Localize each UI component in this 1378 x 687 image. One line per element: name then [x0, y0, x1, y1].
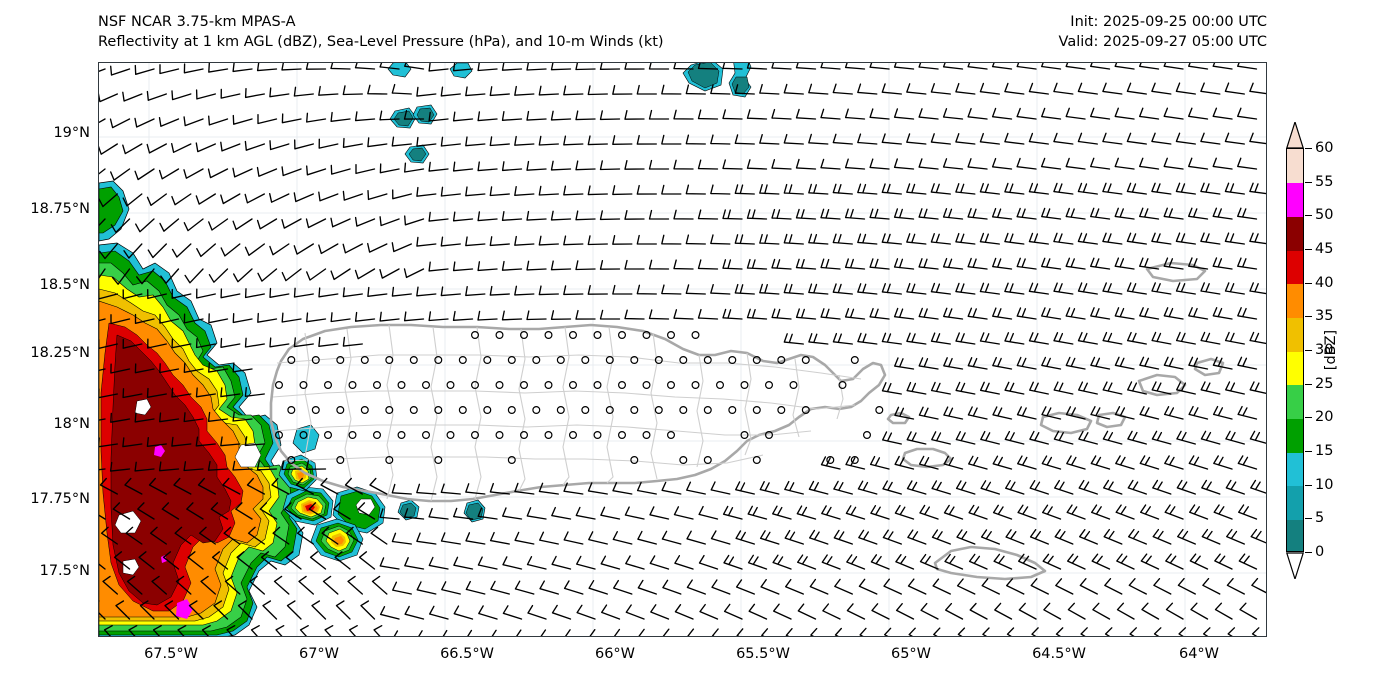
- wind-barb: [540, 581, 558, 594]
- wind-barb: [1140, 63, 1159, 69]
- wind-barb: [846, 209, 865, 219]
- wind-barb: [834, 481, 852, 494]
- colorbar-segment-30-35: [1287, 317, 1303, 351]
- colorbar-title: [dBZ]: [1323, 330, 1339, 370]
- wind-barb: [933, 579, 950, 594]
- wind-barb: [1226, 431, 1244, 444]
- wind-barb: [650, 310, 669, 319]
- wind-barb: [858, 134, 877, 144]
- wind-barb: [515, 581, 533, 594]
- colorbar-tick-15: [1305, 451, 1312, 452]
- wind-barb: [908, 481, 926, 494]
- wind-barb: [836, 629, 853, 637]
- wind-barb: [748, 506, 766, 519]
- calm-wind-circle: [668, 382, 675, 389]
- wind-barb: [343, 86, 362, 95]
- calm-wind-circle: [692, 382, 699, 389]
- wind-barb: [711, 135, 730, 144]
- wind-barb: [674, 260, 693, 269]
- wind-barb: [699, 160, 718, 169]
- wind-barb: [945, 505, 963, 519]
- wind-barb: [860, 628, 877, 636]
- wind-barb: [699, 210, 718, 219]
- colorbar-ticklabel-55: 55: [1315, 174, 1333, 190]
- calm-wind-circle: [398, 432, 405, 439]
- wind-barb: [319, 338, 338, 347]
- wind-barb: [736, 531, 754, 544]
- wind-barb: [650, 507, 669, 519]
- wind-barb: [1140, 158, 1159, 169]
- wind-barb: [956, 333, 975, 344]
- calm-wind-circle: [337, 407, 344, 414]
- wind-barb: [907, 184, 926, 194]
- wind-barb: [1164, 63, 1183, 69]
- wind-barb: [1204, 628, 1220, 636]
- wind-barb: [221, 142, 240, 151]
- wind-barb: [723, 310, 742, 320]
- colorbar-tick-50: [1305, 215, 1312, 216]
- wind-barb: [539, 236, 558, 245]
- municipality-boundaries: [273, 325, 861, 501]
- wind-barb: [1066, 108, 1085, 119]
- wind-barb: [601, 507, 620, 519]
- wind-barb: [331, 313, 350, 322]
- calm-wind-circle: [557, 357, 564, 364]
- wind-barb: [528, 557, 547, 569]
- wind-barb: [356, 269, 375, 279]
- wind-barb: [209, 169, 228, 178]
- wind-barb: [539, 136, 558, 145]
- wind-barb: [1215, 554, 1232, 569]
- wind-barb: [809, 334, 828, 344]
- wind-barb: [527, 112, 546, 121]
- wind-barb: [735, 135, 754, 144]
- wind-barb: [466, 187, 485, 196]
- wind-barb: [735, 235, 754, 244]
- wind-barb: [1238, 158, 1257, 169]
- wind-barb: [602, 605, 620, 619]
- wind-barb: [417, 287, 436, 296]
- wind-barb: [1104, 530, 1122, 544]
- wind-barb: [687, 580, 705, 594]
- wind-barb: [1018, 505, 1036, 519]
- wind-barb: [798, 555, 816, 569]
- calm-wind-circle: [680, 357, 687, 364]
- wind-barb: [1152, 183, 1171, 194]
- wind-barb: [246, 89, 265, 98]
- wind-barb: [172, 144, 191, 153]
- wind-barb: [882, 134, 901, 144]
- wind-barb: [245, 194, 264, 203]
- wind-barb: [613, 86, 632, 95]
- wind-barb: [380, 217, 399, 226]
- wind-barb: [553, 605, 571, 619]
- wind-barb: [711, 482, 730, 494]
- wind-barb: [312, 601, 326, 619]
- wind-barb: [993, 407, 1012, 419]
- wind-barb: [674, 160, 693, 169]
- wind-barb: [1238, 308, 1257, 319]
- wind-barb: [270, 88, 289, 97]
- wind-barb: [982, 579, 999, 594]
- wind-barb: [1152, 233, 1171, 244]
- wind-barb: [276, 626, 289, 636]
- calm-wind-circle: [582, 357, 589, 364]
- wind-barb: [1128, 481, 1146, 495]
- wind-barb: [773, 555, 791, 569]
- wind-barb: [564, 86, 583, 95]
- wind-barb: [1201, 83, 1220, 94]
- wind-barb: [895, 209, 914, 219]
- wind-barb: [1066, 208, 1085, 219]
- wind-barb: [479, 606, 497, 619]
- calm-wind-circle: [459, 407, 466, 414]
- wind-barb: [871, 457, 889, 469]
- calm-wind-circle: [423, 382, 430, 389]
- wind-barb: [319, 87, 338, 96]
- wind-barb: [1240, 603, 1257, 619]
- colorbar-ticklabel-10: 10: [1315, 477, 1333, 493]
- calm-wind-circle: [619, 332, 626, 339]
- wind-barb: [503, 557, 522, 569]
- wind-barb: [1078, 83, 1097, 94]
- wind-barb: [823, 604, 840, 619]
- wind-barb: [1006, 530, 1024, 544]
- wind-barb: [772, 260, 791, 270]
- wind-barb: [1190, 505, 1208, 519]
- calm-wind-circle: [778, 407, 785, 414]
- calm-wind-circle: [619, 382, 626, 389]
- wind-barb: [270, 338, 289, 347]
- calm-wind-circle: [668, 432, 675, 439]
- calm-wind-circle: [484, 357, 491, 364]
- wind-barb: [1201, 233, 1220, 244]
- wind-barb: [270, 244, 289, 255]
- wind-barb: [565, 630, 583, 636]
- colorbar-tick-55: [1305, 182, 1312, 183]
- wind-barb: [907, 432, 926, 444]
- wind-barb: [1252, 579, 1266, 594]
- wind-barb: [1189, 63, 1208, 69]
- wind-barb: [466, 484, 485, 494]
- wind-barb: [968, 358, 987, 369]
- wind-barb: [405, 216, 424, 225]
- wind-barb: [662, 531, 680, 544]
- wind-barb: [700, 605, 718, 619]
- wind-barb: [1152, 283, 1171, 294]
- wind-barb: [919, 159, 938, 169]
- wind-barb: [331, 113, 350, 122]
- wind-barb: [282, 63, 301, 70]
- calm-wind-circle: [533, 357, 540, 364]
- calm-wind-circle: [374, 432, 381, 439]
- wind-barb: [147, 92, 166, 101]
- wind-barb: [995, 603, 1012, 619]
- wind-barb: [662, 85, 681, 94]
- wind-barb: [700, 556, 718, 569]
- colorbar-segment-20-25: [1287, 385, 1303, 419]
- wind-barb: [969, 505, 987, 519]
- wind-barb: [946, 604, 963, 619]
- wind-barb: [282, 219, 301, 228]
- colorbar-tick-35: [1305, 316, 1312, 317]
- wind-barb: [699, 110, 718, 119]
- wind-barb: [1091, 308, 1110, 319]
- wind-barb: [516, 630, 534, 636]
- wind-barb: [908, 530, 926, 544]
- wind-barb: [282, 269, 301, 281]
- wind-barb: [1115, 357, 1134, 369]
- wind-barb: [1079, 333, 1098, 344]
- wind-barb: [944, 259, 963, 269]
- wind-barb: [663, 580, 681, 594]
- wind-barb: [956, 234, 975, 244]
- wind-barb: [258, 63, 277, 71]
- wind-barb: [1152, 133, 1171, 144]
- wind-barb: [282, 313, 301, 322]
- wind-barb: [810, 531, 828, 545]
- map-plot-area[interactable]: [98, 62, 1267, 637]
- calm-wind-circle: [704, 407, 711, 414]
- wind-barb: [515, 237, 534, 246]
- wind-barb: [723, 110, 742, 119]
- wind-barb: [625, 310, 644, 319]
- wind-barb: [601, 161, 620, 170]
- wind-barb: [1092, 554, 1109, 569]
- wind-barb: [246, 338, 265, 347]
- wind-barb: [344, 139, 363, 148]
- wind-barb: [1213, 158, 1232, 169]
- calm-wind-circle: [447, 382, 454, 389]
- wind-barb: [1214, 456, 1232, 469]
- wind-barb: [552, 111, 571, 120]
- wind-barb: [454, 162, 473, 171]
- wind-barb: [1055, 530, 1073, 544]
- wind-barb: [99, 67, 105, 76]
- wind-barb: [724, 507, 742, 520]
- wind-barb: [870, 209, 889, 219]
- wind-barb: [1152, 83, 1171, 94]
- wind-barb: [983, 628, 999, 636]
- calm-wind-circle: [570, 432, 577, 439]
- wind-barb: [275, 576, 289, 594]
- wind-barb: [1106, 628, 1122, 636]
- colorbar-tick-25: [1305, 384, 1312, 385]
- wind-barb: [1167, 603, 1184, 619]
- wind-barb: [348, 576, 362, 594]
- wind-barb: [588, 236, 607, 245]
- wind-barb: [371, 527, 387, 544]
- wind-barb: [798, 604, 815, 619]
- wind-barb: [417, 582, 436, 594]
- wind-barb: [1178, 530, 1196, 544]
- calm-wind-circle: [545, 332, 552, 339]
- wind-barb: [1030, 333, 1049, 344]
- calm-wind-circle: [337, 457, 344, 464]
- wind-barb: [374, 626, 387, 636]
- wind-barb: [324, 576, 338, 594]
- wind-barb: [135, 118, 154, 127]
- wind-barb: [613, 532, 632, 544]
- calm-wind-circle: [594, 432, 601, 439]
- wind-barb: [392, 485, 411, 495]
- wind-barb: [1017, 209, 1036, 220]
- wind-barb: [785, 482, 804, 494]
- wind-barb: [564, 186, 583, 195]
- wind-barb: [1127, 233, 1146, 244]
- wind-barb: [1251, 481, 1266, 495]
- wind-barb: [1005, 184, 1024, 195]
- wind-barb: [405, 558, 424, 569]
- wind-barb: [785, 531, 803, 544]
- wind-barb: [565, 581, 583, 594]
- wind-barb: [895, 457, 913, 470]
- wind-barb: [883, 383, 902, 394]
- colorbar[interactable]: 051015202530354045505560: [1286, 122, 1304, 578]
- wind-barb: [1030, 432, 1048, 445]
- wind-barb: [221, 289, 240, 298]
- wind-barb: [968, 109, 987, 119]
- wind-barb: [1054, 382, 1073, 394]
- wind-barb: [466, 533, 485, 544]
- colorbar-ticklabel-50: 50: [1315, 207, 1333, 223]
- wind-barb: [760, 135, 779, 144]
- wind-barb: [282, 114, 301, 123]
- wind-barb: [871, 506, 889, 519]
- wind-barb: [1007, 579, 1024, 594]
- wind-barb: [393, 631, 411, 636]
- wind-barb: [993, 258, 1012, 269]
- wind-barb: [625, 261, 644, 270]
- wind-barb: [1116, 407, 1135, 419]
- wind-barb: [1081, 628, 1097, 636]
- wind-barb: [883, 432, 902, 444]
- wind-barb: [221, 339, 240, 348]
- wind-barb: [895, 259, 914, 269]
- wind-barb: [331, 269, 350, 279]
- wind-barb: [638, 580, 656, 594]
- wind-barb: [932, 432, 951, 444]
- wind-barb: [601, 211, 620, 220]
- wind-barb: [1152, 333, 1171, 345]
- wind-barb: [1017, 308, 1036, 319]
- wind-barb: [588, 186, 607, 195]
- wind-barb: [221, 194, 240, 204]
- wind-barb: [1164, 108, 1183, 119]
- calm-wind-circle: [521, 382, 528, 389]
- wind-barb: [319, 192, 338, 201]
- wind-barb: [197, 289, 216, 298]
- wind-barb: [772, 309, 791, 319]
- wind-barb: [478, 112, 497, 121]
- wind-barb: [361, 601, 375, 619]
- wind-barb: [614, 630, 632, 637]
- wind-barb: [184, 117, 203, 126]
- wind-barb: [466, 87, 485, 96]
- wind-barb: [1153, 530, 1171, 544]
- wind-barb: [870, 109, 889, 119]
- wind-barb: [956, 432, 975, 444]
- wind-barb: [895, 63, 914, 69]
- wind-barb: [674, 210, 693, 219]
- wind-barb: [1177, 333, 1196, 345]
- wind-barb: [846, 109, 865, 119]
- wind-barb: [1128, 333, 1147, 344]
- calm-wind-circle: [729, 407, 736, 414]
- wind-barb: [393, 190, 412, 199]
- wind-barb: [1250, 83, 1266, 94]
- wind-barb: [1042, 258, 1061, 269]
- wind-barb: [1017, 159, 1036, 170]
- wind-barb: [1226, 480, 1244, 494]
- wind-barb: [1006, 481, 1024, 494]
- wind-barb: [1226, 333, 1245, 345]
- wind-barb: [637, 86, 656, 95]
- wind-barb: [650, 161, 669, 170]
- wind-barb: [184, 219, 203, 231]
- wind-barb: [1250, 133, 1266, 144]
- wind-barb: [380, 558, 399, 569]
- wind-barb: [356, 165, 375, 174]
- wind-barb: [233, 116, 252, 125]
- wind-barb: [919, 109, 938, 119]
- wind-barb: [1068, 554, 1085, 569]
- wind-barb: [687, 482, 706, 494]
- wind-barb: [360, 552, 375, 569]
- ytick-3: 18.25°N: [30, 345, 90, 361]
- wind-barb: [663, 629, 680, 636]
- calm-wind-circle: [557, 407, 564, 414]
- wind-barb: [821, 109, 840, 119]
- wind-barb: [833, 334, 852, 344]
- wind-barb: [712, 531, 730, 544]
- wind-barb: [786, 580, 804, 594]
- colorbar-segment-55-60: [1287, 149, 1303, 183]
- wind-barb: [760, 235, 779, 244]
- wind-barb: [441, 87, 460, 96]
- wind-barb: [467, 631, 485, 637]
- wind-barb: [515, 137, 534, 146]
- wind-barb: [882, 184, 901, 194]
- wind-barb: [1054, 183, 1073, 194]
- wind-barb: [368, 138, 387, 147]
- wind-barb: [613, 186, 632, 195]
- wind-barb: [699, 260, 718, 269]
- wind-barb: [527, 311, 546, 320]
- wind-barb: [418, 631, 436, 636]
- wind-barb: [1153, 481, 1171, 495]
- wind-barb: [1042, 63, 1061, 69]
- wind-barb: [932, 481, 950, 494]
- wind-barb: [1091, 158, 1110, 169]
- calm-wind-circle: [680, 407, 687, 414]
- wind-barb: [919, 259, 938, 269]
- wind-barb: [846, 159, 865, 169]
- wind-barb: [944, 159, 963, 169]
- wind-barb: [1189, 158, 1208, 169]
- ytick-4: 18°N: [53, 416, 90, 432]
- wind-barb: [527, 162, 546, 171]
- wind-barb: [221, 244, 240, 256]
- wind-barb: [870, 259, 889, 269]
- wind-barb: [331, 218, 350, 227]
- wind-barb: [919, 308, 938, 319]
- wind-barb: [944, 407, 963, 419]
- wind-barb: [931, 234, 950, 244]
- wind-barb: [897, 604, 914, 619]
- wind-barb: [969, 456, 987, 469]
- wind-barb: [1067, 456, 1085, 469]
